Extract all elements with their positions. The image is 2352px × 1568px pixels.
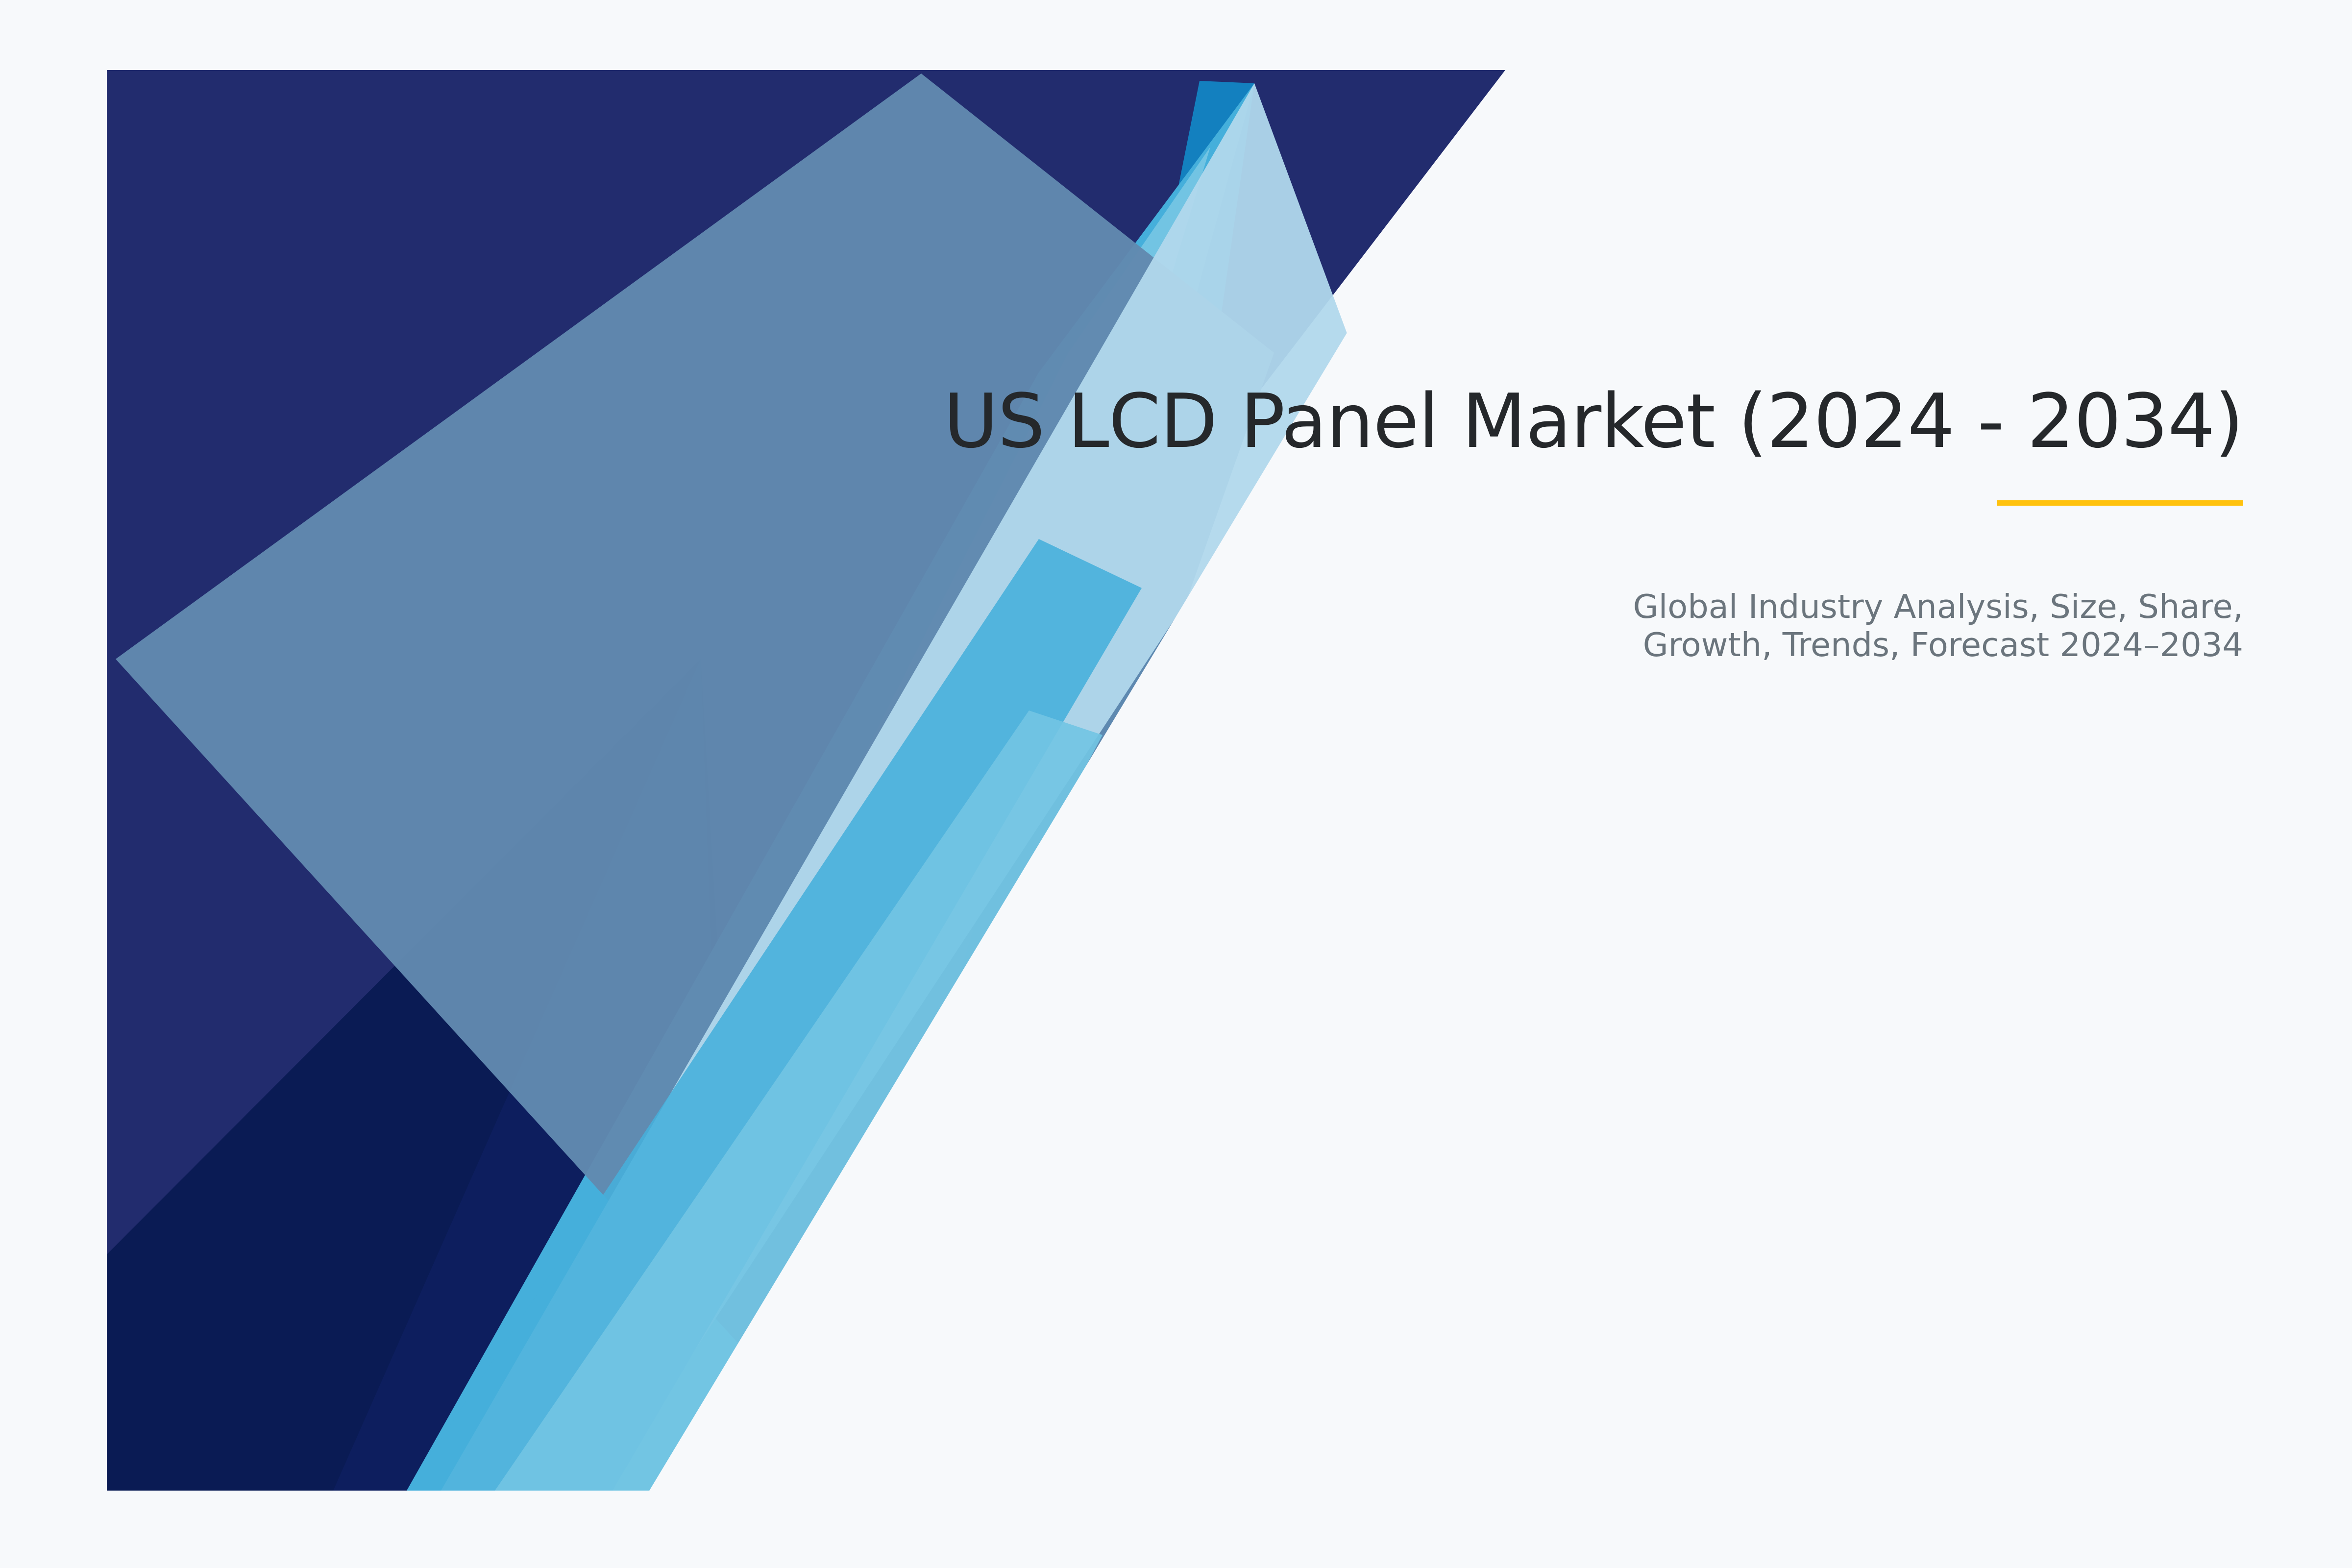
title-block: US LCD Panel Market (2024 - 2034) Global… xyxy=(822,377,2243,664)
page-title: US LCD Panel Market (2024 - 2034) xyxy=(822,377,2243,465)
shape-navy-blade xyxy=(333,659,730,1491)
mask-top-background xyxy=(0,0,2352,70)
abstract-polygon-cover-graphic xyxy=(0,0,2352,1568)
mask-bottom-background xyxy=(0,1491,2352,1568)
accent-rule xyxy=(1997,500,2243,506)
shape-slate-blue-quad xyxy=(116,73,1274,1491)
cover-slide: US LCD Panel Market (2024 - 2034) Global… xyxy=(0,0,2352,1568)
shape-cyan-field xyxy=(107,70,1505,1491)
mask-right-background xyxy=(603,70,2352,1568)
shape-navy-deep-wedge xyxy=(107,659,750,1491)
artwork-svg xyxy=(0,0,2352,1568)
shape-light-blue-tip xyxy=(495,710,1102,1491)
shape-cyan-sliver xyxy=(960,81,1254,1274)
mask-left-background xyxy=(0,0,107,1568)
shape-sky-blue-band xyxy=(407,83,1254,1491)
page-subtitle: Global Industry Analysis, Size, Share, G… xyxy=(822,588,2243,664)
shape-navy-triangle xyxy=(107,70,1505,1491)
shape-sky-accent-tail xyxy=(407,539,1142,1491)
accent-rule-container xyxy=(822,500,2243,506)
shape-pale-blue-overlay xyxy=(441,83,1352,1491)
shape-light-blue-band xyxy=(490,147,1210,1491)
